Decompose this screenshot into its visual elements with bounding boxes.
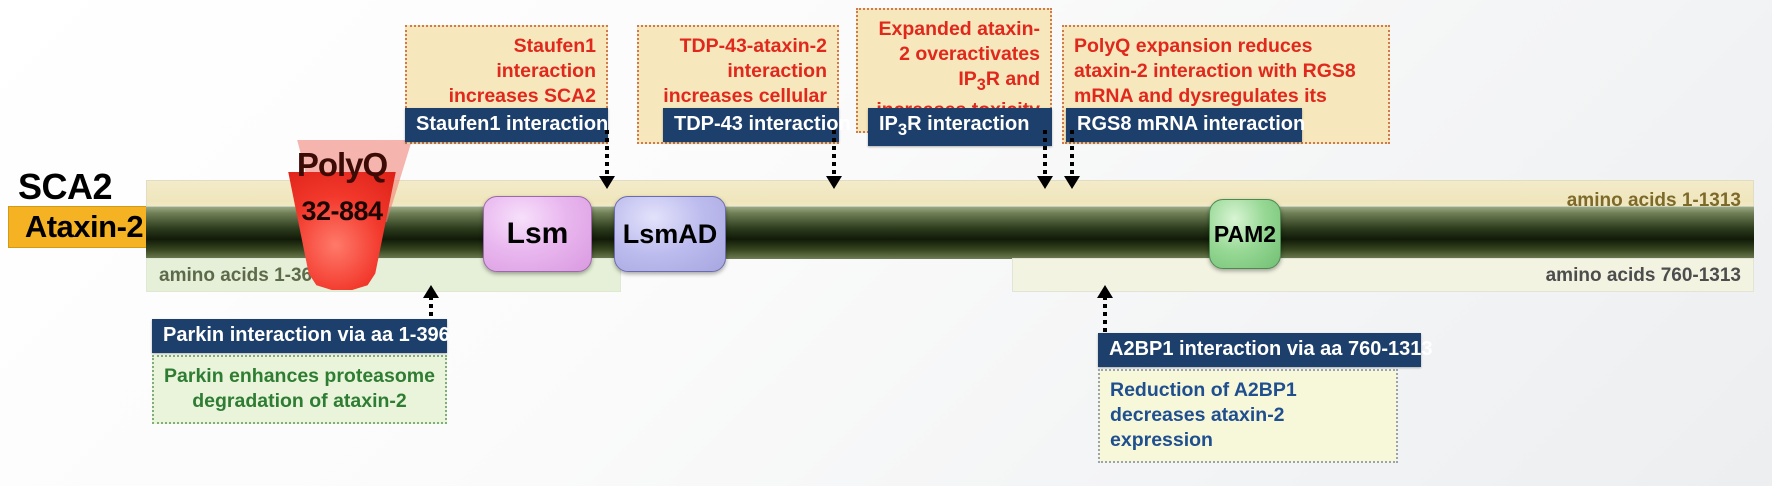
polyq-cone-shape [278,172,406,290]
arrow-ip3r-icon [1043,130,1047,178]
protein-label-text: Ataxin-2 [25,209,143,245]
domain-lsm-label: Lsm [507,217,569,251]
annotation-parkin-description: Parkin enhances proteasome degradation o… [152,355,447,424]
arrow-a2bp1-icon [1103,296,1107,334]
annotation-ip3r-title-suffix: R interaction [907,113,1029,135]
annotation-ip3r-title: IP3R interaction [868,108,1052,146]
domain-lsmad-label: LsmAD [623,219,718,250]
diagram-canvas: SCA2 Ataxin-2 amino acids 1-1313 amino a… [0,0,1772,486]
domain-pam2: PAM2 [1209,199,1281,269]
arrow-rgs8-icon [1070,130,1074,178]
annotation-rgs8-title: RGS8 mRNA interaction [1066,108,1302,142]
polyq-range-label: 32-884 [272,196,412,227]
arrow-tdp43-icon [832,130,836,178]
polyq-marker: PolyQ 32-884 [272,140,412,285]
protein-label-chip: Ataxin-2 [8,206,160,248]
domain-lsm: Lsm [483,196,592,272]
annotation-ip3r-title-subscript: 3 [898,120,907,139]
annotation-a2bp1-title: A2BP1 interaction via aa 760-1313 [1098,333,1421,367]
gene-label: SCA2 [18,166,150,208]
domain-pam2-label: PAM2 [1214,221,1276,248]
annotation-ip3r-description-subscript: 3 [977,76,986,94]
annotation-tdp43-title: TDP-43 interaction [663,108,839,142]
arrow-staufen1-icon [605,130,609,178]
annotation-ip3r-title-prefix: IP [879,113,898,135]
annotation-a2bp1-description: Reduction of A2BP1 decreases ataxin-2 ex… [1098,369,1398,463]
annotation-parkin-title: Parkin interaction via aa 1-396 [152,319,447,353]
domain-lsmad: LsmAD [614,196,726,272]
c-terminal-range-label: amino acids 760-1313 [1546,265,1741,287]
c-terminal-range-bar: amino acids 760-1313 [1012,258,1754,292]
arrow-parkin-icon [429,296,433,320]
annotation-staufen1-title: Staufen1 interaction [405,108,608,142]
polyq-label: PolyQ [272,146,412,184]
